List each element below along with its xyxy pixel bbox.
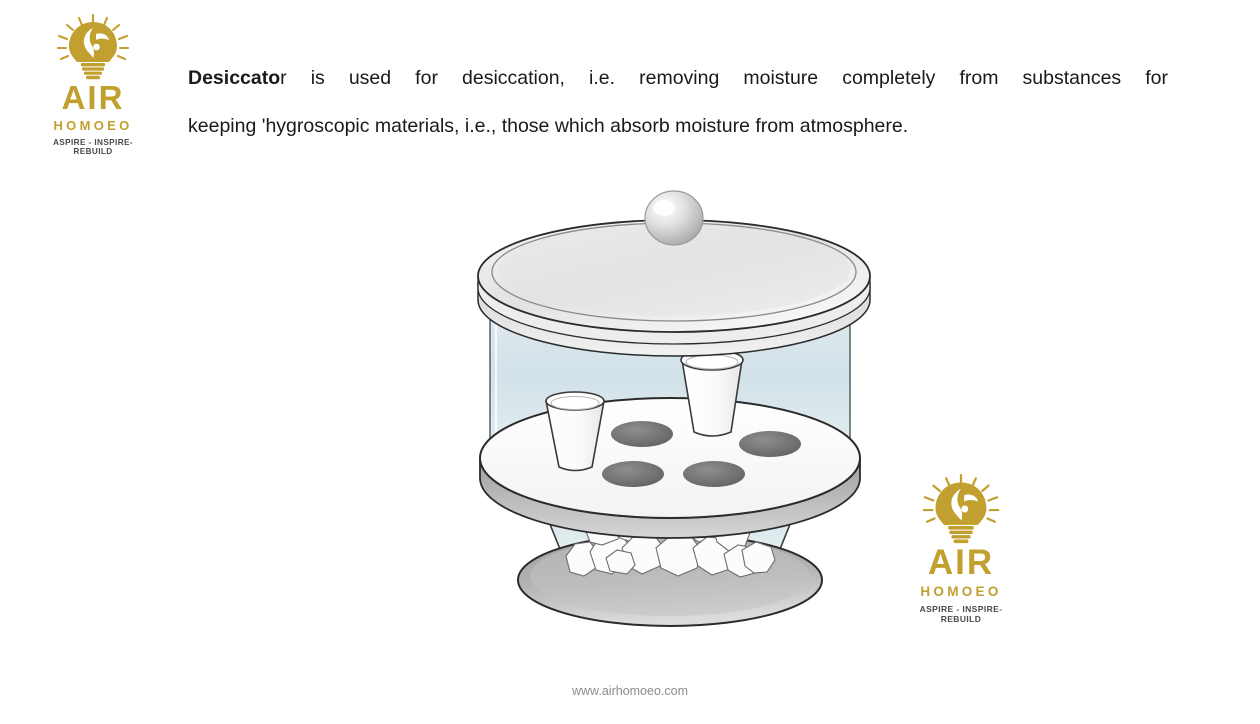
lightbulb-flame-icon <box>34 14 152 80</box>
watermark-air-text: AIR <box>898 545 1024 580</box>
logo-air-text: AIR <box>34 81 152 114</box>
plate-hole <box>683 461 745 487</box>
body-line-1: Desiccator is used for desiccation, i.e.… <box>188 54 1168 102</box>
logo-homoeo-text: HOMOEO <box>34 118 152 133</box>
term-desiccator: Desiccato <box>188 67 280 89</box>
watermark-tagline: ASPIRE - INSPIRE- REBUILD <box>898 604 1024 624</box>
desiccator-illustration <box>470 182 890 652</box>
plate-hole <box>602 461 664 487</box>
footer-url[interactable]: www.airhomoeo.com <box>0 684 1260 698</box>
logo-tagline: ASPIRE - INSPIRE- REBUILD <box>34 138 152 156</box>
slide-canvas: AIR HOMOEO ASPIRE - INSPIRE- REBUILD Des… <box>0 0 1260 724</box>
plate-hole <box>739 431 801 457</box>
body-line-2: keeping 'hygroscopic materials, i.e., th… <box>188 102 1168 150</box>
lightbulb-flame-icon <box>898 474 1024 544</box>
plate-hole <box>611 421 673 447</box>
perforated-porcelain-plate <box>480 398 860 538</box>
lid-knob <box>645 191 703 245</box>
brand-logo: AIR HOMOEO ASPIRE - INSPIRE- REBUILD <box>34 14 152 156</box>
watermark-logo: AIR HOMOEO ASPIRE - INSPIRE- REBUILD <box>898 474 1024 624</box>
body-line-1-rest: r is used for desiccation, i.e. removing… <box>280 67 1168 89</box>
body-paragraph: Desiccator is used for desiccation, i.e.… <box>188 54 1168 150</box>
watermark-homoeo-text: HOMOEO <box>898 584 1024 599</box>
